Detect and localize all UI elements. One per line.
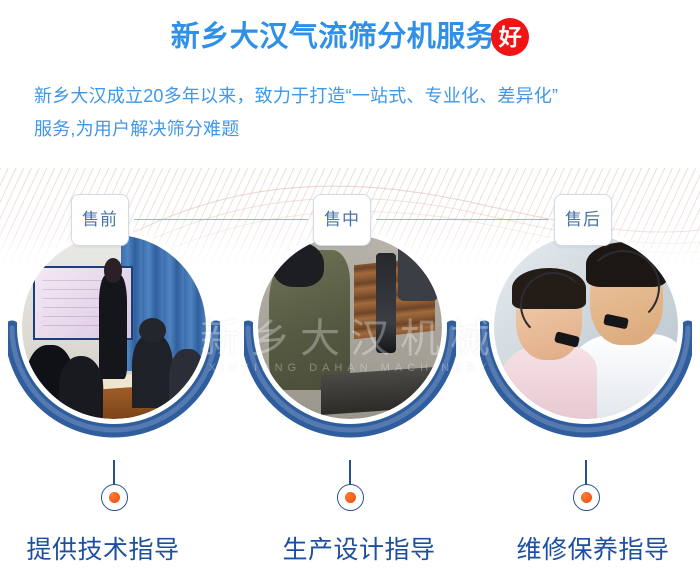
header: 新乡大汉气流筛分机服务好 新乡大汉成立20多年以来，致力于打造“一站式、专业化、… (0, 0, 700, 168)
node-dot-icon (109, 492, 120, 503)
subtitle: 新乡大汉成立20多年以来，致力于打造“一站式、专业化、差异化” 服务,为用户解决… (34, 80, 674, 146)
photo-clusters (0, 232, 700, 532)
stage-connector-1 (134, 219, 308, 220)
photo-manufacturing (258, 235, 442, 419)
node-stem (113, 460, 115, 486)
subtitle-line-2: 服务,为用户解决筛分难题 (34, 113, 674, 146)
cluster-presale (0, 232, 228, 532)
stage-badge-midsale[interactable]: 售中 (313, 194, 371, 246)
photo-customer-service (494, 235, 678, 419)
stage-connector-2 (376, 219, 548, 220)
subtitle-line-1: 新乡大汉成立20多年以来，致力于打造“一站式、专业化、差异化” (34, 80, 674, 113)
stage-badge-aftersale[interactable]: 售后 (554, 194, 612, 246)
caption-maintenance-guidance: 维修保养指导 (498, 530, 688, 570)
cluster-midsale (236, 232, 464, 532)
title-badge: 好 (491, 18, 529, 56)
node-stem (349, 460, 351, 486)
captions: 提供技术指导 生产设计指导 维修保养指导 (0, 530, 700, 578)
photo-training (22, 235, 206, 419)
node-marker-midsale (337, 484, 364, 511)
node-stem (585, 460, 587, 486)
node-dot-icon (581, 492, 592, 503)
service-infographic: 新乡大汉气流筛分机服务好 新乡大汉成立20多年以来，致力于打造“一站式、专业化、… (0, 0, 700, 588)
caption-production-design-guidance: 生产设计指导 (264, 530, 454, 570)
page-title-text: 新乡大汉气流筛分机服务 (171, 18, 496, 56)
stage-badge-presale[interactable]: 售前 (71, 194, 129, 246)
node-marker-presale (101, 484, 128, 511)
caption-technical-guidance: 提供技术指导 (8, 530, 198, 570)
node-dot-icon (345, 492, 356, 503)
stage-badges: 售前 售中 售后 (0, 194, 700, 246)
cluster-aftersale (472, 232, 700, 532)
page-title: 新乡大汉气流筛分机服务好 (0, 18, 700, 56)
node-marker-aftersale (573, 484, 600, 511)
